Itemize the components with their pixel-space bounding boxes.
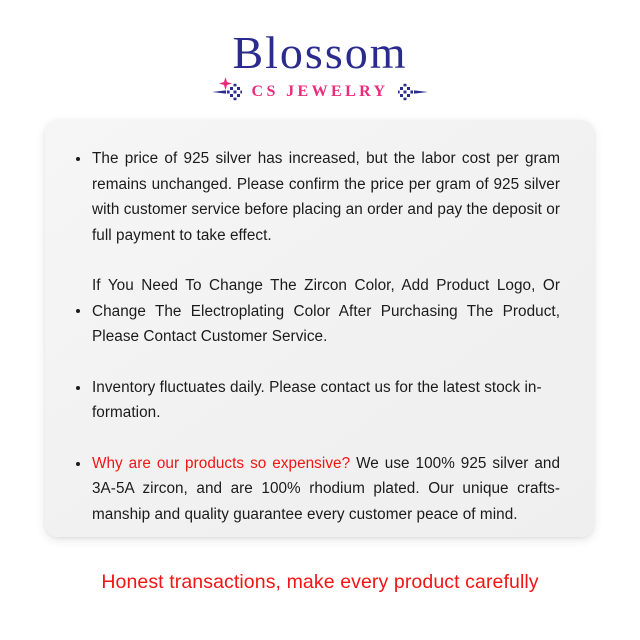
notice-item-text: If You Need To Change The Zircon Color, … [92,277,560,345]
notice-item: If You Need To Change The Zircon Color, … [70,273,560,350]
notice-item: Inventory fluctuates daily. Please conta… [70,375,560,426]
notice-item: The price of 925 silver has increased, b… [70,146,560,248]
bullet-icon [76,462,80,466]
notice-item-highlight: Why are our products so expensive? [92,455,350,472]
brand-wordmark-text: Blossom [232,27,407,78]
notice-item-text: The price of 925 silver has increased, b… [92,150,560,244]
sparkle-diamond-icon [219,48,232,61]
brand-wordmark: Blossom [232,26,407,80]
bullet-icon [76,386,80,390]
footer-tagline: Honest transactions, make every product … [0,568,640,596]
notice-list: The price of 925 silver has increased, b… [70,146,560,527]
flourish-ornament-left-icon [212,83,242,101]
brand-header: Blossom [0,26,640,103]
bullet-icon [76,309,80,313]
bullet-icon [76,157,80,161]
notice-item: Why are our products so expensive? We us… [70,451,560,528]
promo-notice-page: Blossom [0,0,640,640]
flourish-ornament-right-icon [398,83,428,101]
notice-card: The price of 925 silver has increased, b… [45,120,594,537]
notice-item-text: Inventory fluctuates daily. Please conta… [92,379,542,422]
brand-subtitle-row: CS JEWELRY [0,81,640,103]
brand-subtitle-text: CS JEWELRY [251,83,388,101]
